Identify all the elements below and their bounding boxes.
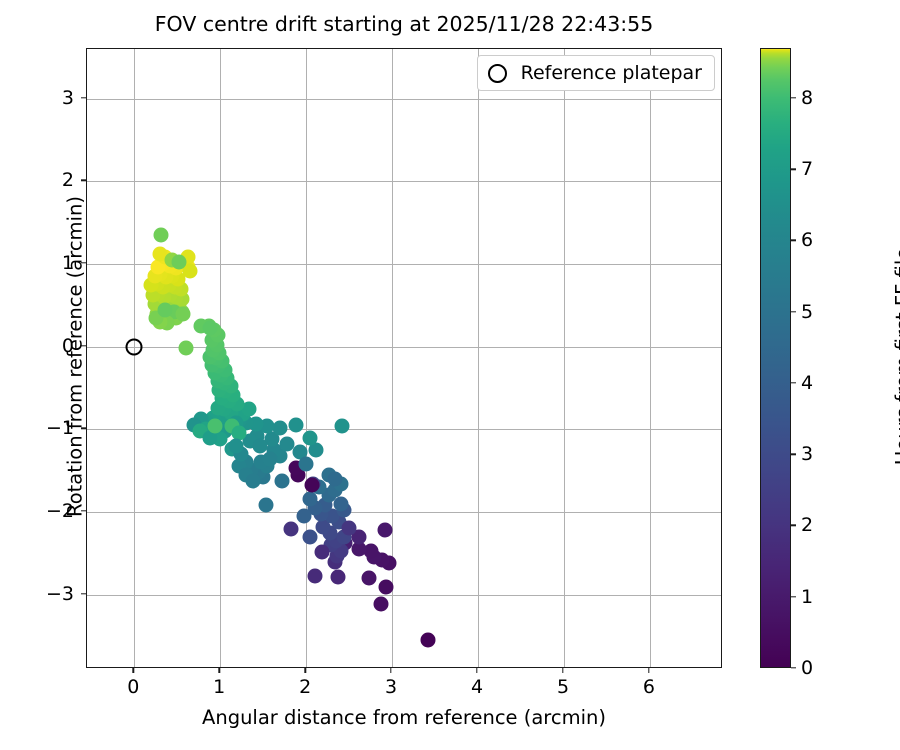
scatter-point: [307, 569, 322, 584]
colorbar-tick-mark: [791, 168, 796, 169]
scatter-point: [178, 341, 193, 356]
colorbar-tick-mark: [791, 311, 796, 312]
colorbar-gradient: [760, 48, 791, 668]
scatter-point: [342, 521, 357, 536]
scatter-point: [288, 418, 303, 433]
gridline-horizontal: [87, 99, 721, 100]
x-tick-mark: [562, 668, 563, 673]
scatter-point: [263, 452, 278, 467]
scatter-point: [245, 473, 260, 488]
scatter-point: [305, 477, 320, 492]
scatter-point: [302, 430, 317, 445]
scatter-point: [378, 523, 393, 538]
scatter-point: [158, 303, 173, 318]
colorbar-tick-label: 4: [801, 372, 813, 394]
scatter-point: [153, 228, 168, 243]
x-tick-label: 0: [127, 676, 139, 698]
gridline-vertical: [392, 49, 393, 667]
x-tick-label: 2: [299, 676, 311, 698]
scatter-point: [330, 570, 345, 585]
colorbar-tick-label: 2: [801, 514, 813, 536]
gridline-vertical: [478, 49, 479, 667]
legend: Reference platepar: [477, 55, 715, 91]
x-tick-mark: [219, 668, 220, 673]
y-axis-label: Rotation from reference (arcmin): [64, 47, 87, 667]
scatter-point: [252, 438, 267, 453]
legend-label: Reference platepar: [521, 62, 702, 84]
gridline-horizontal: [87, 595, 721, 596]
scatter-point: [421, 633, 436, 648]
scatter-point: [176, 306, 191, 321]
colorbar: [760, 48, 791, 668]
colorbar-tick-label: 0: [801, 657, 813, 679]
scatter-point: [228, 438, 243, 453]
page-title: FOV centre drift starting at 2025/11/28 …: [86, 12, 722, 36]
scatter-point: [275, 473, 290, 488]
gridline-horizontal: [87, 181, 721, 182]
x-tick-mark: [390, 668, 391, 673]
scatter-point: [379, 580, 394, 595]
x-tick-label: 5: [557, 676, 569, 698]
colorbar-tick-label: 1: [801, 586, 813, 608]
scatter-point: [335, 418, 350, 433]
chart-page: FOV centre drift starting at 2025/11/28 …: [0, 0, 900, 750]
x-tick-label: 3: [385, 676, 397, 698]
x-tick-mark: [648, 668, 649, 673]
x-tick-mark: [133, 668, 134, 673]
scatter-point: [283, 522, 298, 537]
colorbar-tick-mark: [791, 525, 796, 526]
colorbar-tick-mark: [791, 382, 796, 383]
colorbar-tick-mark: [791, 596, 796, 597]
x-tick-mark: [476, 668, 477, 673]
colorbar-tick-mark: [791, 667, 796, 668]
colorbar-tick-mark: [791, 454, 796, 455]
gridline-vertical: [564, 49, 565, 667]
colorbar-tick-mark: [791, 97, 796, 98]
gridline-vertical: [650, 49, 651, 667]
gridline-vertical: [134, 49, 135, 667]
colorbar-tick-label: 8: [801, 87, 813, 109]
scatter-point: [296, 509, 311, 524]
scatter-point: [328, 471, 343, 486]
scatter-point: [258, 498, 273, 513]
scatter-point: [299, 456, 314, 471]
colorbar-tick-label: 5: [801, 301, 813, 323]
colorbar-tick-label: 6: [801, 229, 813, 251]
x-tick-label: 1: [213, 676, 225, 698]
scatter-point: [202, 321, 217, 336]
colorbar-tick-label: 3: [801, 443, 813, 465]
x-tick-label: 6: [643, 676, 655, 698]
scatter-point: [314, 544, 329, 559]
scatter-point: [373, 596, 388, 611]
scatter-point: [280, 437, 295, 452]
colorbar-label: Hours from first FF file: [892, 47, 900, 667]
scatter-point: [361, 571, 376, 586]
scatter-point: [171, 255, 186, 270]
plot-area: Reference platepar: [86, 48, 722, 668]
scatter-point: [364, 543, 379, 558]
scatter-point: [273, 420, 288, 435]
colorbar-tick-mark: [791, 240, 796, 241]
colorbar-tick-label: 7: [801, 158, 813, 180]
scatter-point: [303, 529, 318, 544]
reference-platepar-marker: [126, 338, 143, 355]
scatter-point: [208, 418, 223, 433]
x-tick-mark: [304, 668, 305, 673]
x-tick-label: 4: [471, 676, 483, 698]
x-axis-label: Angular distance from reference (arcmin): [86, 706, 722, 729]
gridline-horizontal: [87, 429, 721, 430]
gridline-horizontal: [87, 512, 721, 513]
legend-open-circle-icon: [488, 64, 507, 83]
